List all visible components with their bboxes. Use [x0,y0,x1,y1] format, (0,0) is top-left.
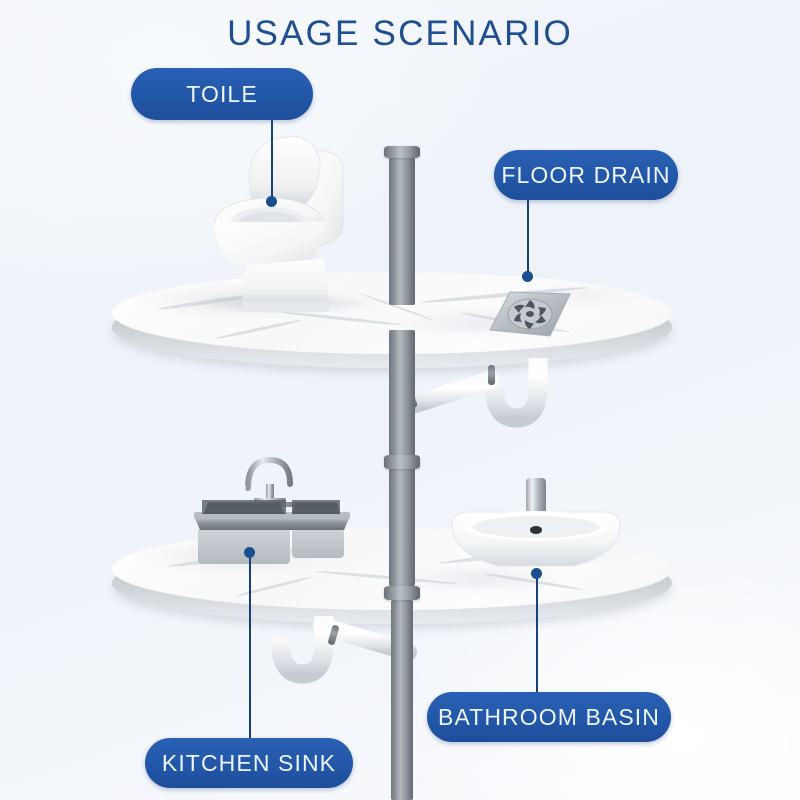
callout-label-toilet: TOILE [186,81,258,108]
leader-line-kitchen-sink [249,552,251,739]
callout-badge-kitchen-sink[interactable]: KITCHEN SINK [145,738,353,788]
leader-dot-floor-drain [522,271,533,282]
stack-pipe-lower-collar [384,586,420,600]
callout-badge-floor-drain[interactable]: FLOOR DRAIN [494,150,678,200]
stack-pipe-middle-collar [384,455,420,469]
leader-dot-kitchen-sink [244,547,255,558]
stack-pipe-upper-segment [389,157,415,305]
callout-label-floor-drain: FLOOR DRAIN [501,162,670,189]
callout-badge-toilet[interactable]: TOILE [131,68,313,120]
bathroom-basin-fixture [448,472,624,572]
upper-trap-ring-right [488,365,495,385]
callout-badge-bathroom-basin[interactable]: BATHROOM BASIN [427,692,671,742]
usage-scenario-infographic: USAGE SCENARIO [0,0,800,800]
leader-dot-bathroom-basin [531,568,542,579]
lower-trap-pipe [258,608,458,688]
stack-pipe-top-collar [384,146,420,158]
stack-pipe-middle-segment-2 [389,468,415,586]
callout-label-bathroom-basin: BATHROOM BASIN [438,704,660,731]
toilet-fixture [185,130,385,315]
leader-line-bathroom-basin [536,573,538,693]
leader-line-toilet [271,120,273,201]
page-title: USAGE SCENARIO [0,14,800,54]
leader-line-floor-drain [527,200,529,276]
leader-dot-toilet [266,196,277,207]
stack-pipe-lower-segment [391,600,413,800]
stack-pipe-middle-segment [389,330,415,460]
callout-label-kitchen-sink: KITCHEN SINK [162,750,336,777]
floor-drain-fixture [488,288,574,342]
kitchen-sink-fixture [192,446,352,566]
